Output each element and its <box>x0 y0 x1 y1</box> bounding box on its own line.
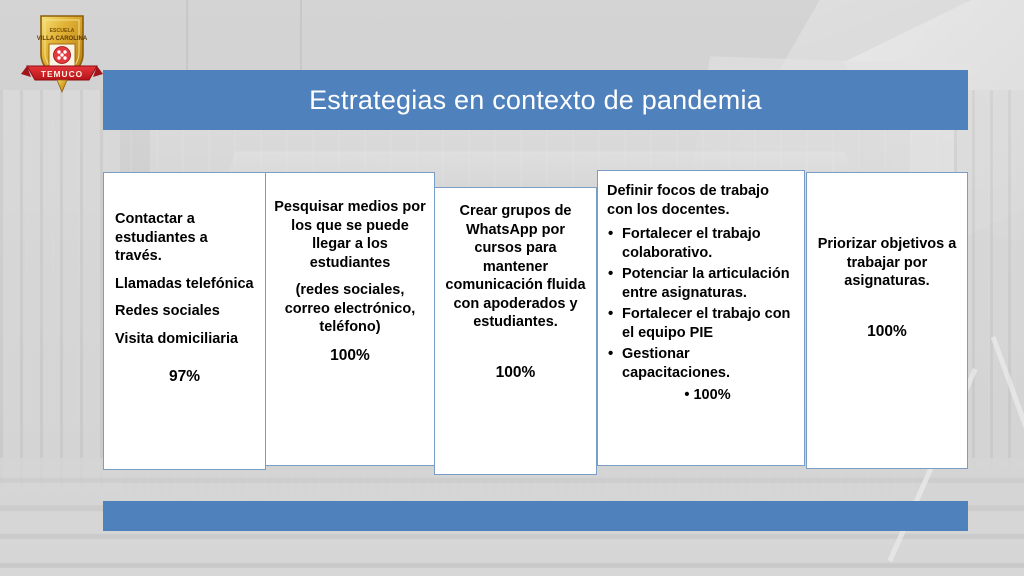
card-line: Visita domiciliaria <box>115 330 254 349</box>
svg-text:VILLA CAROLINA: VILLA CAROLINA <box>37 36 88 42</box>
slide-title-bar: Estrategias en contexto de pandemia <box>103 70 968 130</box>
crest-icon: ESCUELA VILLA CAROLINA TEMUCO <box>19 8 105 94</box>
card-line: (redes sociales, correo electrónico, tel… <box>274 281 426 337</box>
slide-bottom-bar <box>103 501 968 531</box>
card-percentage: 97% <box>115 367 254 387</box>
list-item: • Gestionar capacitaciones. <box>607 345 796 382</box>
bullet-icon: • <box>608 224 613 243</box>
school-crest-logo: ESCUELA VILLA CAROLINA TEMUCO <box>19 8 105 94</box>
bullet-icon: • <box>608 264 613 283</box>
card-lead-text: Definir focos de trabajo con los docente… <box>607 182 796 219</box>
strategy-card-body: Crear grupos de WhatsApp por cursos para… <box>435 202 596 383</box>
strategy-card-body: Definir focos de trabajo con los docente… <box>598 182 804 405</box>
card-line: Priorizar objetivos a trabajar por asign… <box>816 235 958 291</box>
strategy-card-body: Priorizar objetivos a trabajar por asign… <box>807 235 967 341</box>
list-item-label: Potenciar la articulación entre asignatu… <box>622 266 790 301</box>
strategy-card-pesquisar: Pesquisar medios por los que se puede ll… <box>265 172 435 466</box>
presentation-slide: ESCUELA VILLA CAROLINA TEMUCO Estrategia… <box>0 0 1024 576</box>
list-item-label: Fortalecer el trabajo con el equipo PIE <box>622 306 790 341</box>
card-percentage: 100% <box>816 322 958 342</box>
card-percentage: • 100% <box>607 386 796 405</box>
list-item: • Fortalecer el trabajo colaborativo. <box>607 225 796 262</box>
svg-text:TEMUCO: TEMUCO <box>41 69 83 79</box>
card-bullet-list: • Fortalecer el trabajo colaborativo. • … <box>607 225 796 382</box>
strategy-card-body: Contactar a estudiantes a través. Llamad… <box>104 210 265 387</box>
strategy-card-whatsapp: Crear grupos de WhatsApp por cursos para… <box>434 187 597 475</box>
strategy-card-focos-trabajo: Definir focos de trabajo con los docente… <box>597 170 805 466</box>
bullet-icon: • <box>608 304 613 323</box>
card-line: Pesquisar medios por los que se puede ll… <box>274 198 426 272</box>
list-item: • Fortalecer el trabajo con el equipo PI… <box>607 305 796 342</box>
strategy-card-priorizar: Priorizar objetivos a trabajar por asign… <box>806 172 968 469</box>
card-percentage: 100% <box>274 346 426 366</box>
card-line: Crear grupos de WhatsApp por cursos para… <box>443 202 588 332</box>
list-item: • Potenciar la articulación entre asigna… <box>607 265 796 302</box>
list-item-label: Gestionar capacitaciones. <box>622 346 730 381</box>
svg-text:ESCUELA: ESCUELA <box>50 28 75 34</box>
card-line: Llamadas telefónica <box>115 275 254 294</box>
strategy-card-body: Pesquisar medios por los que se puede ll… <box>266 198 434 366</box>
bullet-icon: • <box>608 344 613 363</box>
card-line: Redes sociales <box>115 302 254 321</box>
list-item-label: Fortalecer el trabajo colaborativo. <box>622 226 761 261</box>
page-title: Estrategias en contexto de pandemia <box>309 85 762 116</box>
strategy-card-contactar: Contactar a estudiantes a través. Llamad… <box>103 172 266 470</box>
card-line: Contactar a estudiantes a través. <box>115 210 254 266</box>
card-percentage: 100% <box>443 363 588 383</box>
